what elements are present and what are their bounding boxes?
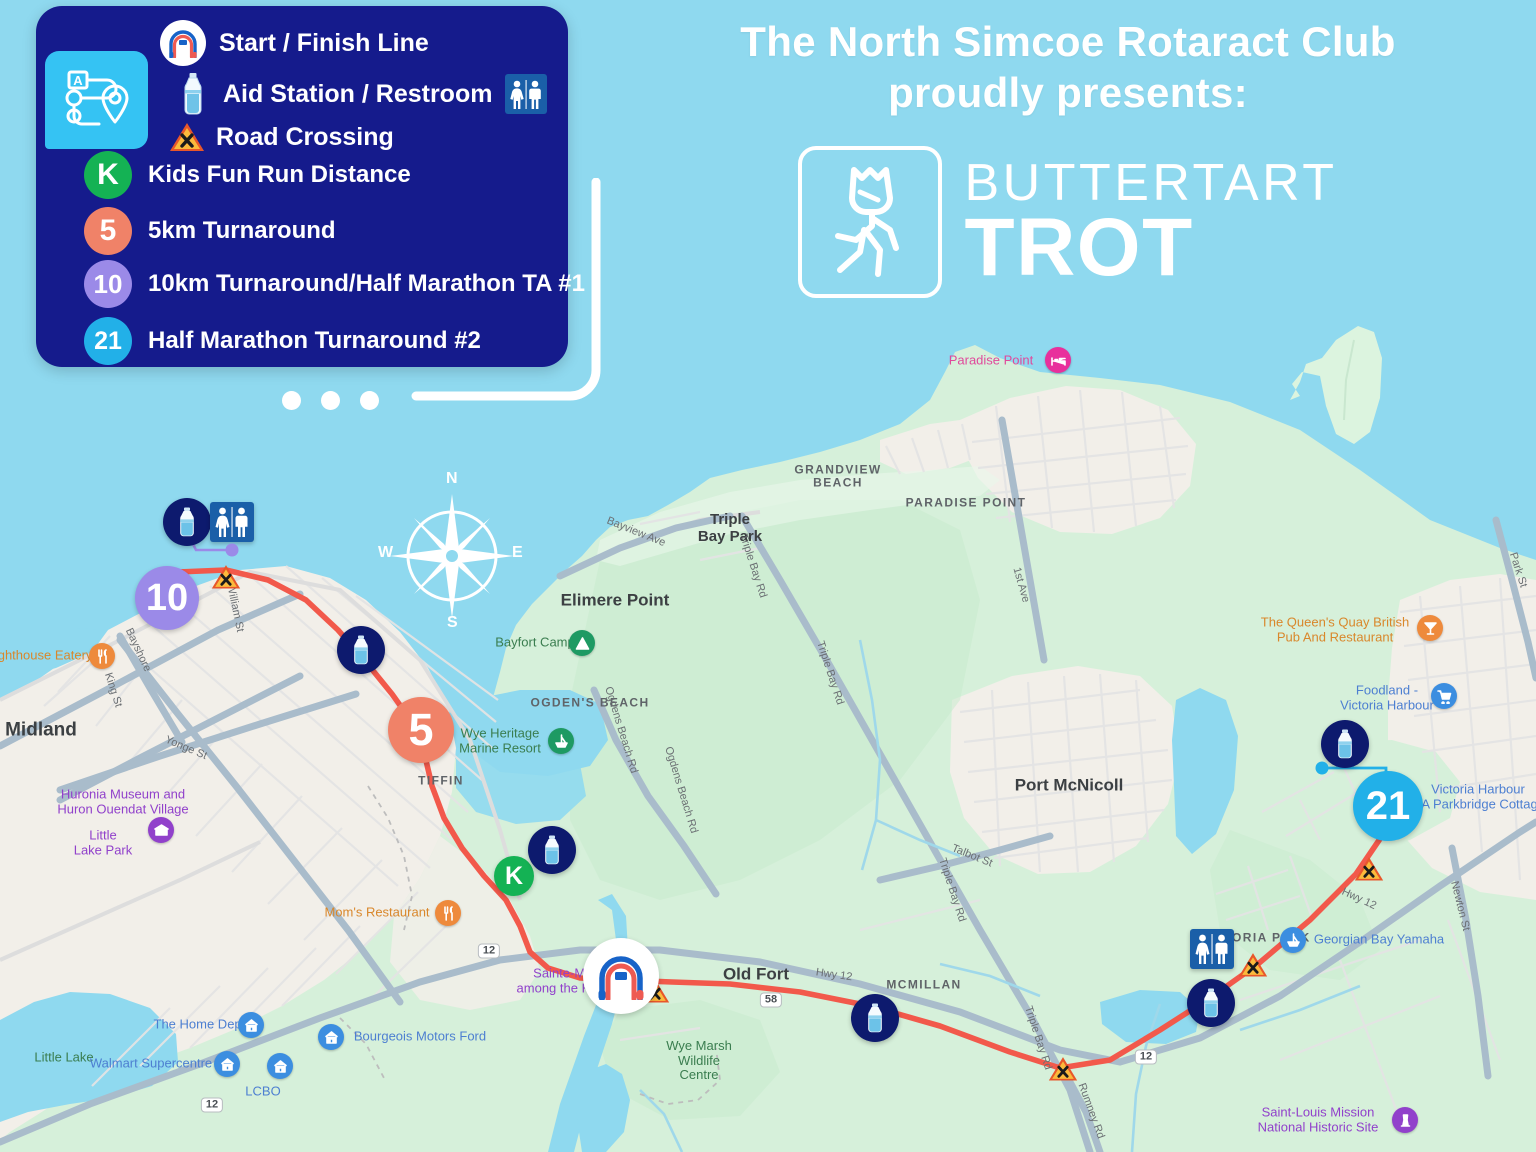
- aid-station-marker[interactable]: [1321, 720, 1369, 768]
- brand-trot: TROT: [964, 209, 1337, 287]
- road-crossing-marker[interactable]: [1354, 856, 1384, 883]
- start-finish-marker[interactable]: [583, 938, 659, 1014]
- highway-shield: 12: [201, 1098, 223, 1113]
- road-crossing-marker[interactable]: [1048, 1056, 1078, 1083]
- brand-wordmark: BUTTERTART TROT: [964, 158, 1337, 287]
- route-connector-dot: [226, 544, 239, 557]
- aid-station-marker[interactable]: [1187, 979, 1235, 1027]
- legend-label-aid: Aid Station / Restroom: [223, 80, 492, 109]
- legend-row-aid: Aid Station / Restroom: [177, 70, 547, 118]
- store-pin[interactable]: [238, 1012, 264, 1038]
- ten-km-chip: 10: [84, 260, 132, 308]
- aid-station-marker[interactable]: [528, 826, 576, 874]
- legend-label-crossing: Road Crossing: [216, 123, 394, 152]
- marker-5[interactable]: 5: [388, 697, 454, 763]
- store-pin[interactable]: [267, 1053, 293, 1079]
- road-crossing-marker[interactable]: [211, 564, 241, 591]
- hotel-pin[interactable]: [1045, 347, 1071, 373]
- legend-label-5km: 5km Turnaround: [148, 217, 336, 245]
- compass-east-label: E: [512, 544, 523, 562]
- legend-row-crossing: Road Crossing: [169, 121, 394, 153]
- route-connector-dot: [1316, 762, 1329, 775]
- water-bottle-icon: [177, 70, 209, 118]
- compass-north-label: N: [446, 470, 458, 488]
- legend-label-kids: Kids Fun Run Distance: [148, 161, 411, 189]
- aid-station-marker[interactable]: [851, 994, 899, 1042]
- road-crossing-icon: [169, 121, 205, 153]
- brand-lockup: BUTTERTART TROT: [600, 146, 1536, 298]
- marina-pin[interactable]: [548, 728, 574, 754]
- five-km-chip: 5: [84, 207, 132, 255]
- restaurant-pin[interactable]: [435, 900, 461, 926]
- legend-label-start: Start / Finish Line: [219, 29, 429, 58]
- decorative-bracket: [392, 178, 612, 410]
- start-arch-icon: [160, 20, 206, 66]
- restaurant-pin[interactable]: [89, 643, 115, 669]
- highway-shield: 12: [1135, 1050, 1157, 1065]
- legend-row-5km: 5 5km Turnaround: [84, 207, 336, 255]
- marker-21[interactable]: 21: [1353, 771, 1423, 841]
- campground-pin[interactable]: [569, 630, 595, 656]
- running-person-icon: [798, 146, 942, 298]
- presenter-line-1: The North Simcoe Rotaract Club: [600, 16, 1536, 67]
- compass-south-label: S: [447, 614, 458, 632]
- restroom-icon: [505, 74, 547, 114]
- restroom-marker[interactable]: [210, 502, 254, 542]
- highway-shield: 12: [478, 944, 500, 959]
- grocery-pin[interactable]: [1431, 683, 1457, 709]
- highway-shield: 58: [760, 993, 782, 1008]
- aid-station-marker[interactable]: [163, 498, 211, 546]
- svg-text:A: A: [73, 73, 83, 88]
- boat-pin[interactable]: [1280, 927, 1306, 953]
- header: The North Simcoe Rotaract Club proudly p…: [600, 16, 1536, 298]
- bar-pin[interactable]: [1417, 615, 1443, 641]
- presenter-line-2: proudly presents:: [600, 67, 1536, 118]
- store-pin[interactable]: [318, 1024, 344, 1050]
- store-pin[interactable]: [214, 1051, 240, 1077]
- compass-rose: N E S W: [382, 478, 522, 633]
- historic-pin[interactable]: [1392, 1107, 1418, 1133]
- half-marathon-chip: 21: [84, 317, 132, 365]
- legend-row-kids: K Kids Fun Run Distance: [84, 151, 411, 199]
- restroom-marker[interactable]: [1190, 929, 1234, 969]
- kids-distance-chip: K: [84, 151, 132, 199]
- road-crossing-marker[interactable]: [1238, 952, 1268, 979]
- compass-west-label: W: [378, 544, 393, 562]
- legend-row-start: Start / Finish Line: [160, 20, 429, 66]
- deco-dot-3: [360, 391, 379, 410]
- deco-dot-2: [321, 391, 340, 410]
- marker-10[interactable]: 10: [135, 566, 199, 630]
- museum-pin[interactable]: [148, 817, 174, 843]
- aid-station-marker[interactable]: [337, 626, 385, 674]
- route-map-icon: A: [45, 51, 148, 149]
- marker-k[interactable]: K: [494, 856, 534, 896]
- deco-dot-1: [282, 391, 301, 410]
